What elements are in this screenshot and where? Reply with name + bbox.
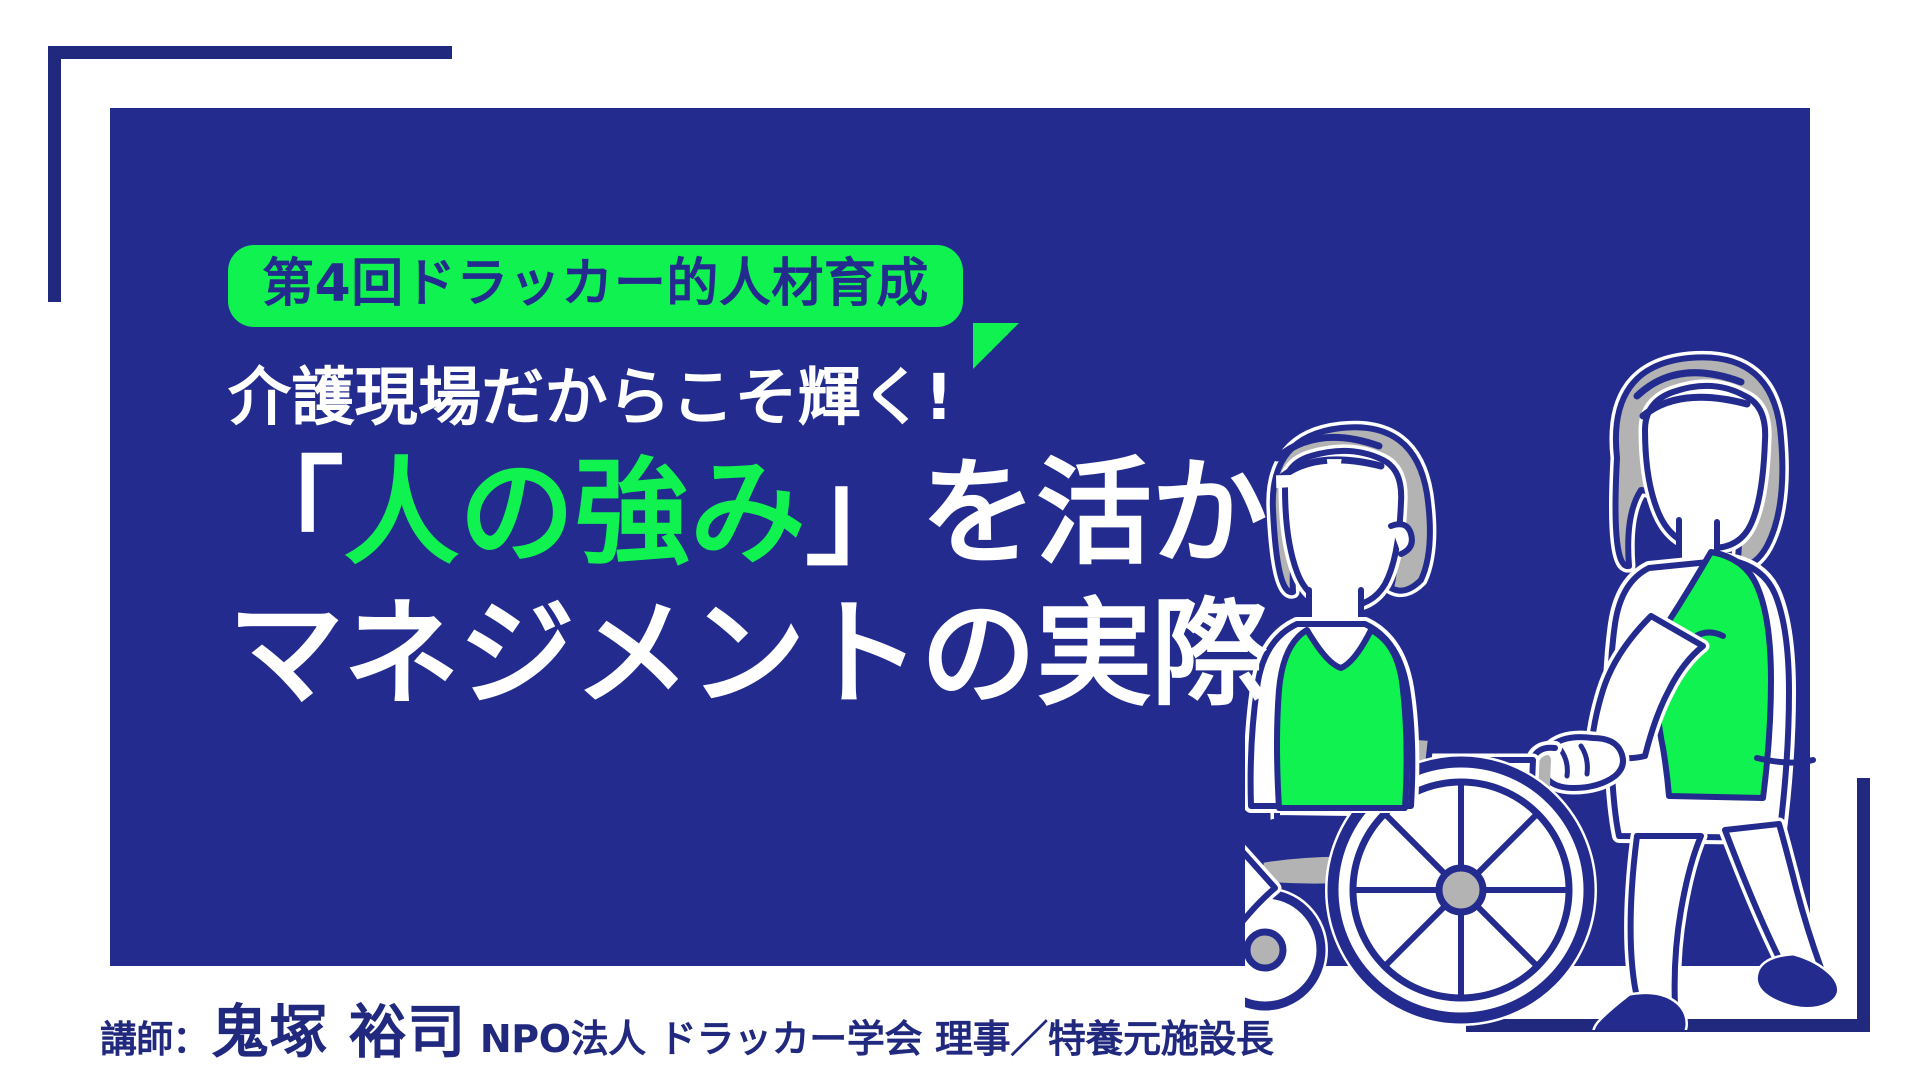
series-badge: 第4回ドラッカー的人材育成 bbox=[228, 245, 963, 327]
headline-subtitle: 介護現場だからこそ輝く! bbox=[228, 362, 1528, 434]
headline-title-line-2: マネジメントの実際 bbox=[228, 581, 1528, 729]
series-badge-bubble: 第4回ドラッカー的人材育成 bbox=[228, 245, 963, 327]
lecturer-label: 講師： bbox=[100, 1009, 209, 1063]
open-bracket-glyph: 「 bbox=[228, 446, 343, 581]
lecturer-affiliation: NPO法人 ドラッカー学会 理事／特養元施設長 bbox=[480, 1008, 1274, 1063]
series-badge-label: 第4回ドラッカー的人材育成 bbox=[262, 255, 929, 313]
lecturer-credit: 講師： 鬼塚 裕司 NPO法人 ドラッカー学会 理事／特養元施設長 bbox=[100, 985, 1274, 1069]
headline-title-line-1: 「人の強み」を活かす bbox=[228, 440, 1528, 588]
close-bracket-glyph: 」 bbox=[805, 446, 920, 581]
headline-block: 介護現場だからこそ輝く! 「人の強み」を活かす マネジメントの実際 bbox=[228, 362, 1528, 729]
headline-accent-text: 人の強み bbox=[343, 446, 805, 581]
speech-bubble-tail bbox=[973, 323, 1019, 369]
lecturer-name: 鬼塚 裕司 bbox=[211, 985, 466, 1069]
headline-title-line-1-rest: を活かす bbox=[921, 446, 1383, 581]
